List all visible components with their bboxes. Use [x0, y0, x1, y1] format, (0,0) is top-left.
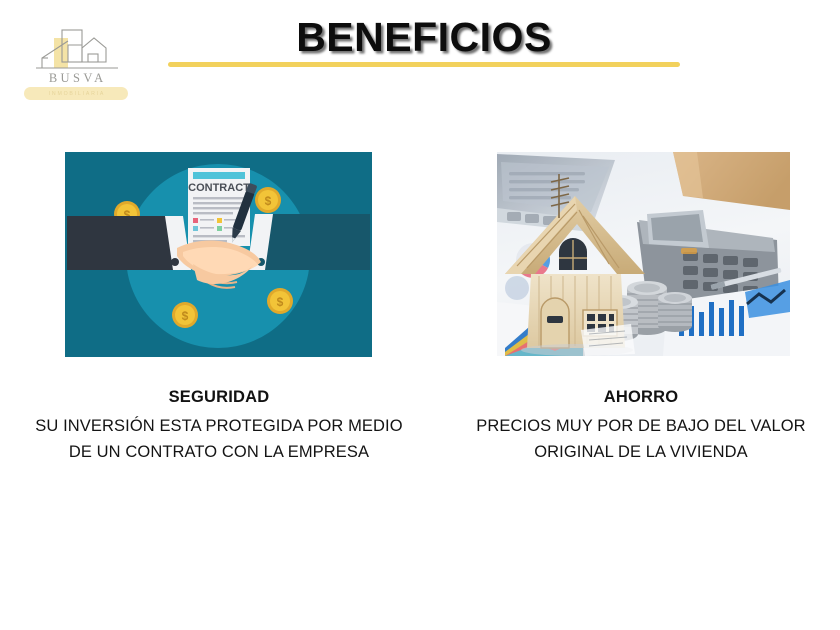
handshake-contract-illustration: CONTRACT: [65, 152, 372, 357]
benefit-caption-ahorro: AHORRO PRECIOS MUY POR DE BAJO DEL VALOR…: [460, 388, 822, 465]
title-underline: [168, 62, 680, 67]
benefit-body-ahorro: PRECIOS MUY POR DE BAJO DEL VALOR ORIGIN…: [460, 414, 822, 465]
wooden-house-coins-calculator-photo: [497, 152, 790, 356]
benefit-caption-seguridad: SEGURIDAD SU INVERSIÓN ESTA PROTEGIDA PO…: [24, 388, 414, 465]
benefit-title-seguridad: SEGURIDAD: [24, 388, 414, 407]
benefit-body-seguridad: SU INVERSIÓN ESTA PROTEGIDA POR MEDIO DE…: [24, 414, 414, 465]
logo-wordmark: BUSVA: [22, 71, 130, 86]
svg-text:$: $: [265, 194, 272, 208]
svg-text:CONTRACT: CONTRACT: [188, 182, 250, 194]
benefit-card-seguridad: CONTRACT: [65, 152, 372, 357]
benefit-title-ahorro: AHORRO: [460, 388, 822, 407]
logo-tagline: INMOBILIARIA: [24, 88, 128, 101]
svg-text:$: $: [277, 295, 284, 309]
busva-logo[interactable]: BUSVA INMOBILIARIA: [22, 24, 130, 106]
page-title: BENEFICIOS: [168, 16, 680, 59]
benefit-card-ahorro: [497, 152, 790, 356]
slide-canvas: BUSVA INMOBILIARIA BENEFICIOS CONTRACT: [0, 0, 840, 630]
svg-text:$: $: [182, 309, 189, 323]
busva-building-mark-icon: [22, 24, 130, 76]
